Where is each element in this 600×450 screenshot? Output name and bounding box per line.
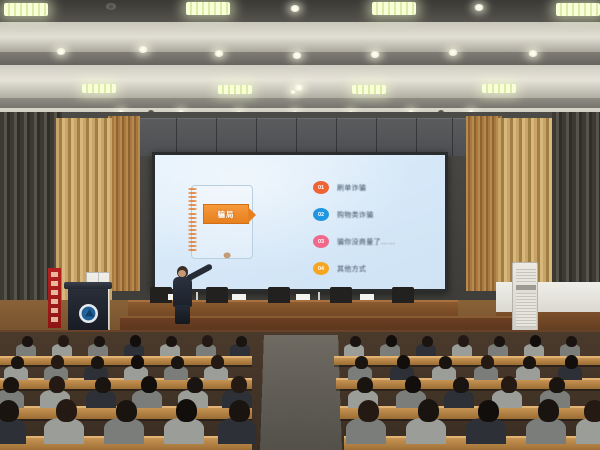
ceiling-band-2 [0, 22, 600, 52]
stage-chair [268, 287, 290, 303]
name-card [360, 294, 374, 300]
ceiling-spot-light-off [106, 3, 116, 10]
bullet-label-02: 购物类诈骗 [337, 210, 374, 220]
student-head [549, 377, 565, 393]
speaker-legs [175, 305, 190, 324]
student-head [358, 400, 379, 422]
student-head [386, 335, 397, 347]
ceiling-band-top [0, 0, 600, 22]
bullet-label-01: 刷单诈骗 [337, 183, 366, 193]
ceiling-spot-light [290, 90, 296, 94]
student-head [116, 400, 137, 422]
list-item: 02 购物类诈骗 [313, 208, 443, 221]
panel-light [218, 85, 252, 94]
student-head [405, 376, 421, 393]
student-head [130, 335, 141, 347]
air-conditioner-unit [512, 262, 538, 334]
panel-light [556, 3, 600, 16]
ceiling-band-5 [0, 98, 600, 108]
panel-light [372, 2, 416, 15]
wall-panel-above-screen [138, 118, 468, 156]
name-card [296, 294, 310, 300]
student-head [439, 356, 452, 369]
student-head [538, 399, 559, 422]
speaker-torso [173, 277, 192, 307]
red-banner [48, 268, 61, 328]
student-head [229, 400, 250, 422]
student-head [530, 335, 541, 347]
ceiling-spot-light [448, 49, 458, 56]
notebook-illustration: 骗局 [191, 185, 253, 259]
student-head [131, 355, 144, 369]
student-head [566, 336, 577, 347]
panel-light [186, 2, 230, 15]
student-head [22, 336, 33, 347]
student-head [501, 376, 517, 393]
student-head [95, 377, 111, 393]
podium [68, 286, 108, 334]
list-item: 01 刷单诈骗 [313, 181, 443, 194]
student-head [56, 399, 77, 422]
list-item: 04 其他方式 [313, 262, 443, 275]
panel-light [4, 3, 48, 16]
bullet-badge-03: 03 [313, 235, 329, 248]
stage-chair [206, 287, 228, 303]
podium-top [64, 282, 112, 289]
student-audience [0, 332, 600, 450]
student-head [422, 336, 433, 347]
panel-light [82, 84, 116, 93]
student-head [202, 335, 213, 347]
bullet-badge-02: 02 [313, 208, 329, 221]
student-head [58, 335, 69, 347]
ac-grille [516, 285, 536, 290]
student-head [11, 356, 24, 369]
microphone [318, 292, 320, 300]
desk-row [334, 356, 600, 365]
bullet-label-04: 其他方式 [337, 264, 366, 274]
student-head [49, 376, 65, 393]
wood-slat-panel-right [466, 116, 502, 291]
ceiling-spot-light [528, 50, 538, 57]
ac-vent-top [516, 269, 536, 283]
school-emblem-icon [79, 304, 98, 323]
panel-light [352, 85, 386, 94]
list-item: 03 骗你没商量了…… [313, 235, 443, 248]
student-head [211, 355, 224, 369]
student-head [565, 355, 578, 369]
student-head [355, 356, 368, 369]
student-head [523, 356, 536, 369]
student-head [357, 377, 373, 393]
student-head [481, 355, 494, 369]
student-head [3, 377, 19, 393]
student-head [94, 336, 105, 347]
ceiling-spot-light [138, 46, 148, 53]
student-head [91, 356, 104, 369]
student-head [458, 335, 469, 347]
wood-slat-panel-left [108, 116, 140, 291]
ceiling-spot-light [292, 52, 302, 59]
student-head [236, 336, 247, 347]
stage-chair [330, 287, 352, 303]
student-head [176, 399, 197, 422]
stage-chair [392, 287, 414, 303]
bullet-badge-01: 01 [313, 181, 329, 194]
speaker-hand [224, 252, 231, 258]
student-head [397, 355, 410, 369]
student-head [418, 399, 439, 422]
student-head [141, 376, 157, 393]
student-head [171, 356, 184, 369]
ceiling [0, 0, 600, 118]
slide-bullet-list: 01 刷单诈骗 02 购物类诈骗 03 骗你没商量了…… 04 其他方式 [313, 181, 443, 289]
student-head [0, 400, 19, 422]
ribbon-text: 骗局 [218, 209, 235, 220]
student-head [350, 336, 361, 347]
notebook-spiral-binding [188, 188, 197, 258]
panel-light [482, 84, 516, 93]
ceiling-spot-light [290, 5, 300, 12]
ceiling-band-4 [0, 65, 600, 98]
student-shoulders [0, 418, 26, 444]
speaker-face [178, 270, 186, 277]
bullet-label-03: 骗你没商量了…… [337, 237, 395, 247]
ceiling-spot-light [474, 4, 484, 11]
name-card [232, 294, 246, 300]
ceiling-spot-light [56, 48, 66, 55]
ceiling-spot-light [214, 50, 224, 57]
student-head [166, 336, 177, 347]
auditorium-photo: 骗局 01 刷单诈骗 02 购物类诈骗 03 骗你没商量了…… 04 [0, 0, 600, 450]
center-aisle [260, 335, 342, 450]
speaker-person [168, 266, 198, 324]
student-head [187, 377, 203, 393]
ac-vent-bottom [516, 293, 536, 327]
student-head [231, 376, 247, 393]
student-head [478, 400, 499, 422]
notebook-ribbon-label: 骗局 [203, 204, 249, 224]
student-head [51, 355, 64, 369]
student-head [584, 400, 600, 422]
student-head [494, 336, 505, 347]
ceiling-spot-light [370, 51, 380, 58]
student-head [453, 377, 469, 393]
bullet-badge-04: 04 [313, 262, 329, 275]
